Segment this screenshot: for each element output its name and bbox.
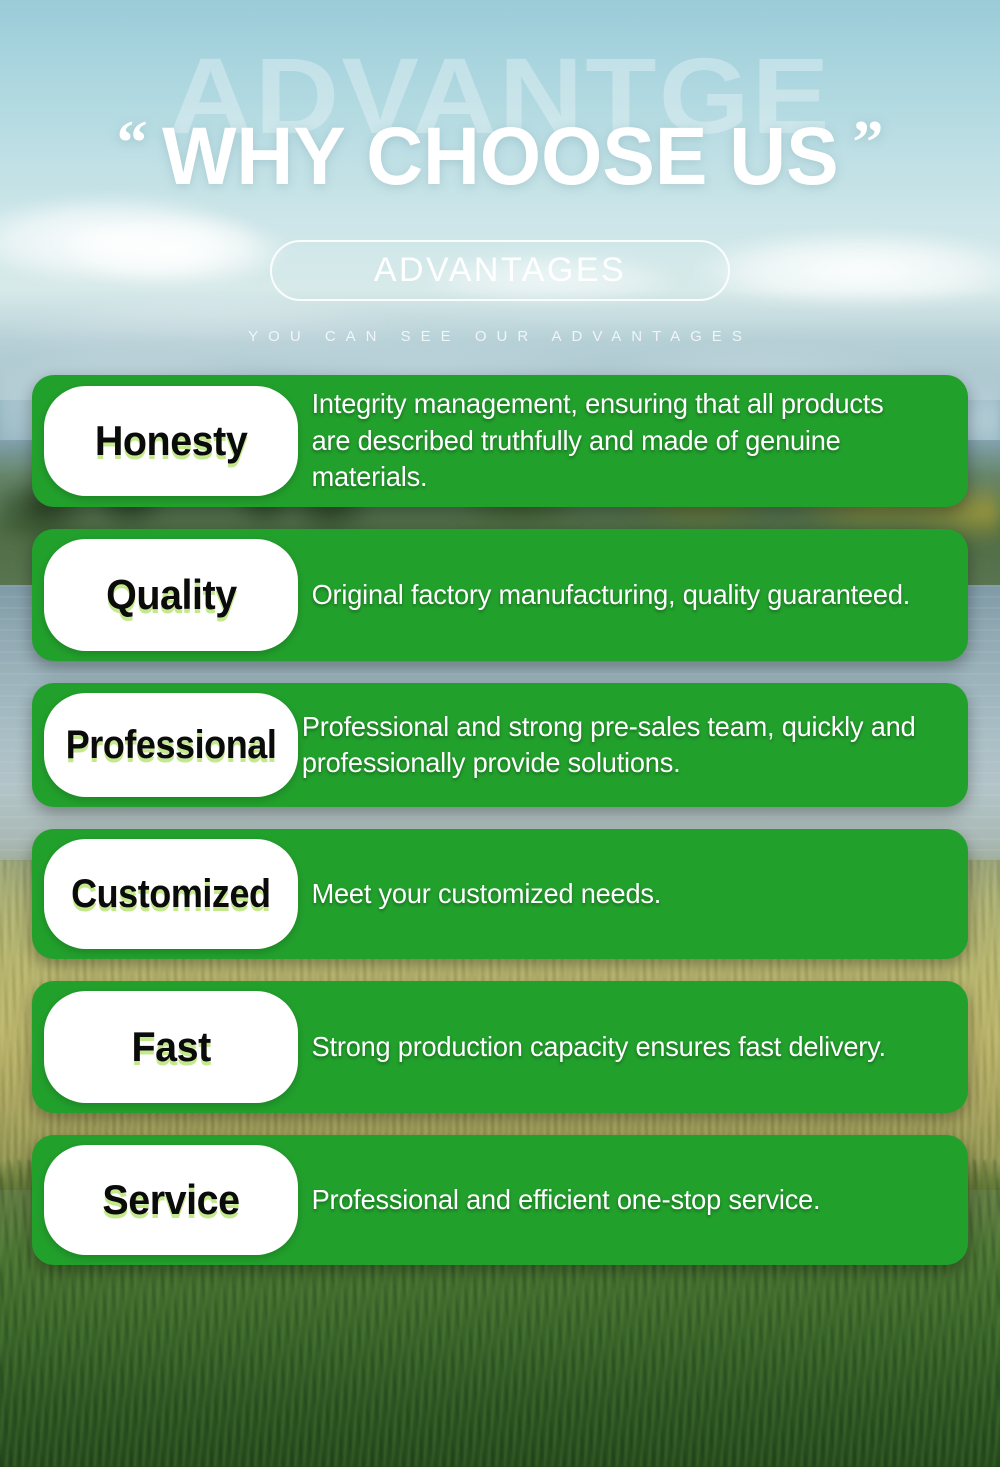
- advantages-badge-label: ADVANTAGES: [374, 251, 626, 290]
- advantage-card: Quality Original factory manufacturing, …: [32, 529, 968, 661]
- advantage-label-pill: Service: [44, 1145, 298, 1255]
- advantage-card: Customized Meet your customized needs.: [32, 829, 968, 959]
- advantage-description: Professional and strong pre-sales team, …: [298, 709, 934, 782]
- advantage-label: Honesty: [95, 417, 247, 465]
- advantage-card: Honesty Integrity management, ensuring t…: [32, 375, 968, 507]
- advantage-label: Service: [102, 1176, 239, 1224]
- advantage-label-pill: Honesty: [44, 386, 298, 496]
- why-choose-us-poster: ADVANTGE “WHY CHOOSE US” ADVANTAGES YOU …: [0, 0, 1000, 1467]
- advantage-label-pill: Customized: [44, 839, 298, 949]
- advantage-label: Fast: [131, 1023, 210, 1071]
- advantages-list: Honesty Integrity management, ensuring t…: [0, 375, 1000, 1265]
- advantages-badge: ADVANTAGES: [270, 240, 730, 301]
- advantage-description: Integrity management, ensuring that all …: [298, 386, 934, 495]
- advantage-description: Strong production capacity ensures fast …: [298, 1029, 934, 1065]
- advantage-label-pill: Professional: [44, 693, 298, 797]
- open-quote-glyph: “: [117, 109, 148, 177]
- advantage-label-pill: Fast: [44, 991, 298, 1103]
- advantage-card: Professional Professional and strong pre…: [32, 683, 968, 807]
- page-title-text: WHY CHOOSE US: [162, 116, 839, 198]
- advantage-label: Quality: [106, 571, 237, 619]
- advantage-label: Professional: [66, 723, 277, 768]
- advantage-card: Fast Strong production capacity ensures …: [32, 981, 968, 1113]
- advantage-label-pill: Quality: [44, 539, 298, 651]
- advantage-description: Meet your customized needs.: [298, 876, 934, 912]
- poster-header: ADVANTGE “WHY CHOOSE US” ADVANTAGES YOU …: [0, 0, 1000, 375]
- page-title: “WHY CHOOSE US”: [0, 116, 1000, 198]
- header-kicker: YOU CAN SEE OUR ADVANTAGES: [0, 328, 1000, 345]
- close-quote-glyph: ”: [852, 109, 883, 177]
- advantage-label: Customized: [71, 872, 271, 917]
- advantage-card: Service Professional and efficient one-s…: [32, 1135, 968, 1265]
- advantage-description: Original factory manufacturing, quality …: [298, 577, 934, 613]
- advantage-description: Professional and efficient one-stop serv…: [298, 1182, 934, 1218]
